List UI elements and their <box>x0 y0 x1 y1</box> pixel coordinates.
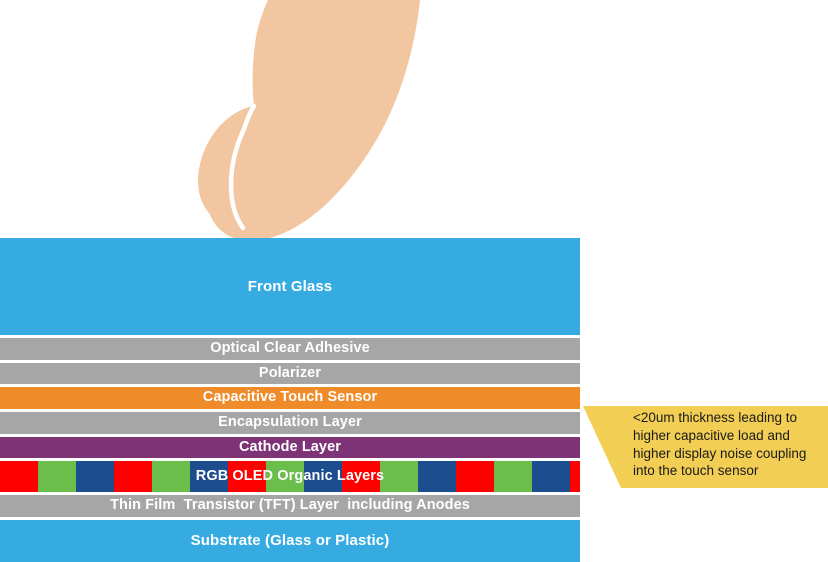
layer-polarizer-label: Polarizer <box>259 366 321 381</box>
rgb-stripe <box>570 461 580 492</box>
display-layer-stack: Front Glass Optical Clear Adhesive Polar… <box>0 238 580 562</box>
rgb-stripe <box>494 461 532 492</box>
rgb-stripe <box>380 461 418 492</box>
layer-polarizer: Polarizer <box>0 363 580 384</box>
finger-touch-icon <box>180 0 440 245</box>
layer-substrate-label: Substrate (Glass or Plastic) <box>191 533 390 549</box>
layer-rgb-oled-label: RGB OLED Organic Layers <box>196 469 384 484</box>
diagram-canvas: Front Glass Optical Clear Adhesive Polar… <box>0 0 828 543</box>
layer-encapsulation-label: Encapsulation Layer <box>218 415 362 430</box>
rgb-stripe <box>532 461 570 492</box>
rgb-stripe <box>456 461 494 492</box>
rgb-stripe <box>0 461 38 492</box>
layer-optical-clear-adhesive: Optical Clear Adhesive <box>0 338 580 360</box>
layer-capacitive-touch-sensor-label: Capacitive Touch Sensor <box>203 390 377 405</box>
layer-capacitive-touch-sensor: Capacitive Touch Sensor <box>0 387 580 409</box>
layer-cathode: Cathode Layer <box>0 437 580 458</box>
rgb-stripe <box>76 461 114 492</box>
rgb-stripe <box>418 461 456 492</box>
callout-annotation: <20um thickness leading to higher capaci… <box>583 406 828 488</box>
layer-tft-label: Thin Film Transistor (TFT) Layer includi… <box>110 498 470 513</box>
layer-front-glass: Front Glass <box>0 238 580 335</box>
layer-tft: Thin Film Transistor (TFT) Layer includi… <box>0 495 580 517</box>
layer-encapsulation: Encapsulation Layer <box>0 412 580 434</box>
layer-front-glass-label: Front Glass <box>248 279 332 295</box>
layer-substrate: Substrate (Glass or Plastic) <box>0 520 580 562</box>
layer-cathode-label: Cathode Layer <box>239 440 341 455</box>
layer-optical-clear-adhesive-label: Optical Clear Adhesive <box>210 341 370 356</box>
rgb-stripe <box>152 461 190 492</box>
rgb-stripe <box>38 461 76 492</box>
callout-text: <20um thickness leading to higher capaci… <box>633 409 823 480</box>
rgb-stripe <box>114 461 152 492</box>
layer-rgb-oled-organic: RGB OLED Organic Layers <box>0 461 580 492</box>
